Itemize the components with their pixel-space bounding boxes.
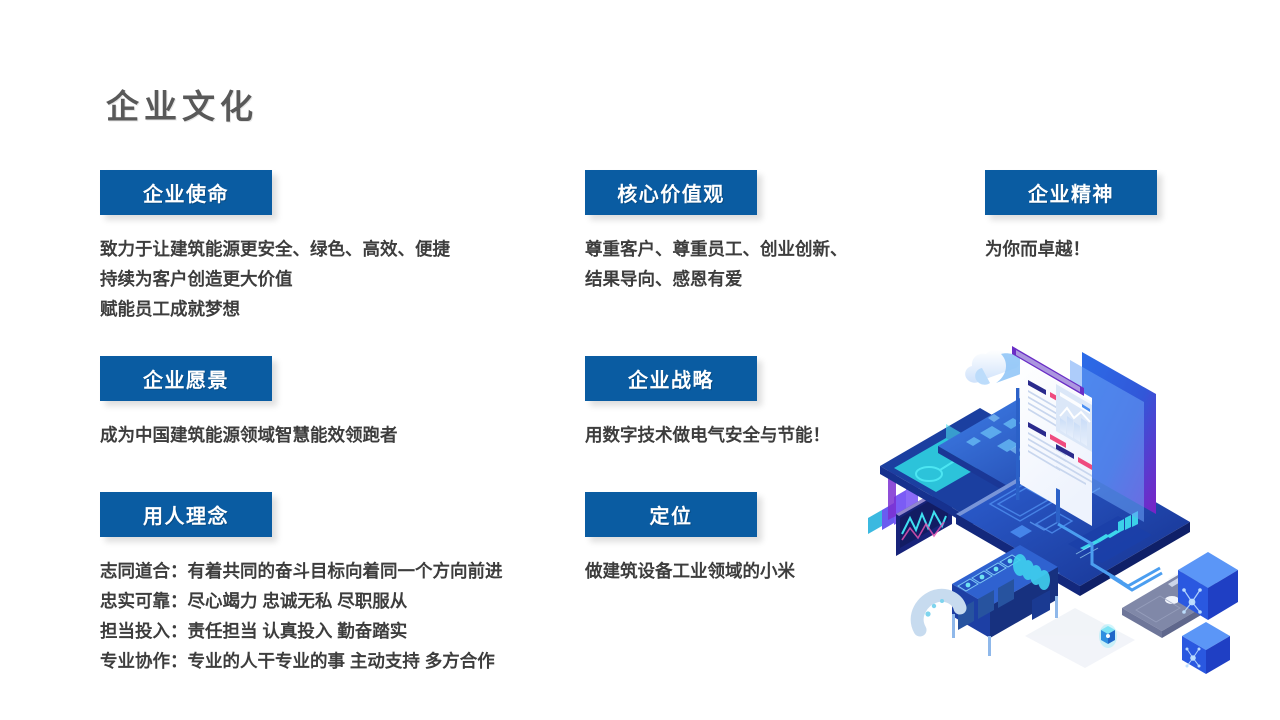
dashboard-screen: [1012, 346, 1156, 526]
body-line: 专业协作：专业的人干专业的事 主动支持 多方合作: [100, 646, 503, 676]
body-line: 尊重客户、尊重员工、创业创新、: [585, 234, 848, 264]
server-rack: [948, 545, 1060, 656]
keypad-panel: [1122, 568, 1230, 638]
body-line: 赋能员工成就梦想: [100, 294, 450, 324]
circuit-board-panel-lower: [860, 318, 1190, 596]
body-core-values: 尊重客户、尊重员工、创业创新、 结果导向、感恩有爱: [585, 234, 848, 294]
body-line: 为你而卓越！: [985, 234, 1157, 264]
body-positioning: 做建筑设备工业领域的小米: [585, 556, 795, 586]
badge-core-values[interactable]: 核心价值观: [585, 170, 757, 215]
network-cube: [1178, 552, 1238, 620]
bar-chart-panel: [868, 464, 918, 534]
body-line: 志同道合：有着共同的奋斗目标向着同一个方向前进: [100, 556, 503, 586]
block-core-values: 核心价值观 尊重客户、尊重员工、创业创新、 结果导向、感恩有爱: [585, 170, 848, 294]
mini-bars: [1118, 511, 1138, 533]
body-line: 担当投入：责任担当 认真投入 勤奋踏实: [100, 616, 503, 646]
badge-mission[interactable]: 企业使命: [100, 170, 272, 215]
body-strategy: 用数字技术做电气安全与节能！: [585, 420, 830, 450]
badge-spirit[interactable]: 企业精神: [985, 170, 1157, 215]
slide-canvas: 企业文化 企业使命 致力于让建筑能源更安全、绿色、高效、便捷 持续为客户创造更大…: [0, 0, 1280, 720]
body-line: 结果导向、感恩有爱: [585, 264, 848, 294]
glow-node-icon: [1099, 624, 1117, 648]
page-title: 企业文化: [106, 86, 258, 127]
isometric-smart-energy-illustration: [860, 318, 1280, 688]
block-talent: 用人理念 志同道合：有着共同的奋斗目标向着同一个方向前进 忠实可靠：尽心竭力 忠…: [100, 492, 503, 676]
rack-fans: [958, 554, 1050, 591]
cloud-icon: [965, 350, 1028, 500]
badge-talent[interactable]: 用人理念: [100, 492, 272, 537]
badge-strategy[interactable]: 企业战略: [585, 356, 757, 401]
badge-positioning[interactable]: 定位: [585, 492, 757, 537]
screen-chart: [1056, 384, 1092, 452]
body-talent: 志同道合：有着共同的奋斗目标向着同一个方向前进 忠实可靠：尽心竭力 忠诚无私 尽…: [100, 556, 503, 676]
body-line: 做建筑设备工业领域的小米: [585, 556, 795, 586]
badge-vision[interactable]: 企业愿景: [100, 356, 272, 401]
body-line: 成为中国建筑能源领域智慧能效领跑者: [100, 420, 398, 450]
body-mission: 致力于让建筑能源更安全、绿色、高效、便捷 持续为客户创造更大价值 赋能员工成就梦…: [100, 234, 450, 324]
ground-shadows: [948, 510, 1232, 668]
body-line: 致力于让建筑能源更安全、绿色、高效、便捷: [100, 234, 450, 264]
body-vision: 成为中国建筑能源领域智慧能效领跑者: [100, 420, 398, 450]
block-vision: 企业愿景 成为中国建筑能源领域智慧能效领跑者: [100, 356, 398, 450]
body-line: 忠实可靠：尽心竭力 忠诚无私 尽职服从: [100, 586, 503, 616]
body-line: 用数字技术做电气安全与节能！: [585, 420, 830, 450]
block-mission: 企业使命 致力于让建筑能源更安全、绿色、高效、便捷 持续为客户创造更大价值 赋能…: [100, 170, 450, 324]
circuit-board-panel-left: [880, 408, 1070, 526]
connector-cables: [1058, 524, 1162, 590]
body-spirit: 为你而卓越！: [985, 234, 1157, 264]
body-line: 持续为客户创造更大价值: [100, 264, 450, 294]
circuit-board-panel-main: [938, 398, 1112, 506]
block-positioning: 定位 做建筑设备工业领域的小米: [585, 492, 795, 586]
network-cube-small: [1182, 622, 1230, 674]
flow-pipe: [917, 595, 960, 630]
block-strategy: 企业战略 用数字技术做电气安全与节能！: [585, 356, 830, 450]
block-spirit: 企业精神 为你而卓越！: [985, 170, 1157, 264]
screen-bottom-rows: [1056, 444, 1092, 485]
screen-left-rows: [1028, 380, 1066, 471]
waveform-panel: [896, 482, 955, 556]
